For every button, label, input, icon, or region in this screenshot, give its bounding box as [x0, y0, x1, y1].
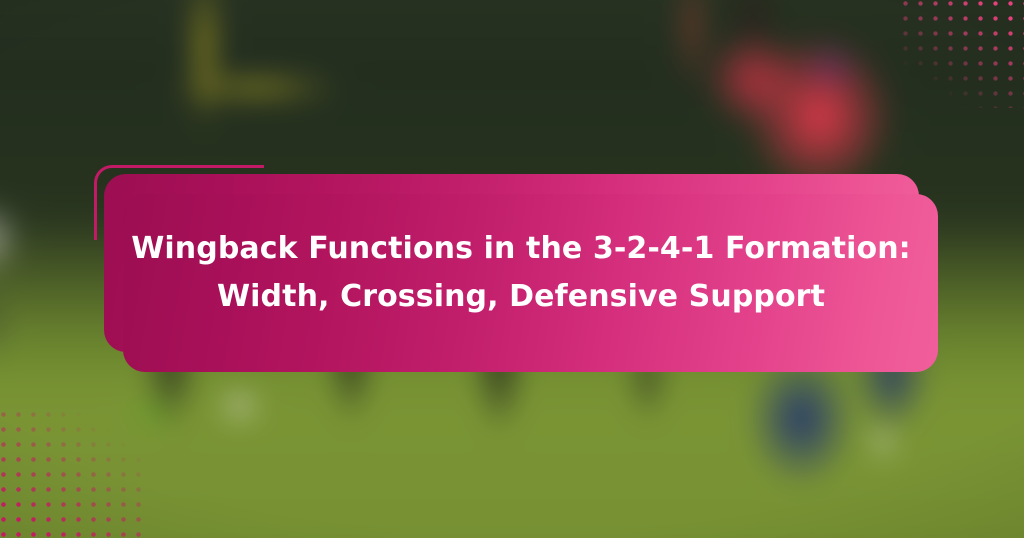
banner-root: Wingback Functions in the 3-2-4-1 Format… — [0, 0, 1024, 538]
page-title-line-2: Width, Crossing, Defensive Support — [217, 273, 825, 321]
page-title-line-1: Wingback Functions in the 3-2-4-1 Format… — [131, 225, 911, 273]
title-card-content: Wingback Functions in the 3-2-4-1 Format… — [123, 174, 919, 372]
halftone-dots-top-right-icon — [898, 0, 1024, 108]
halftone-dots-bottom-left-icon — [0, 407, 148, 538]
title-card: Wingback Functions in the 3-2-4-1 Format… — [104, 174, 938, 372]
